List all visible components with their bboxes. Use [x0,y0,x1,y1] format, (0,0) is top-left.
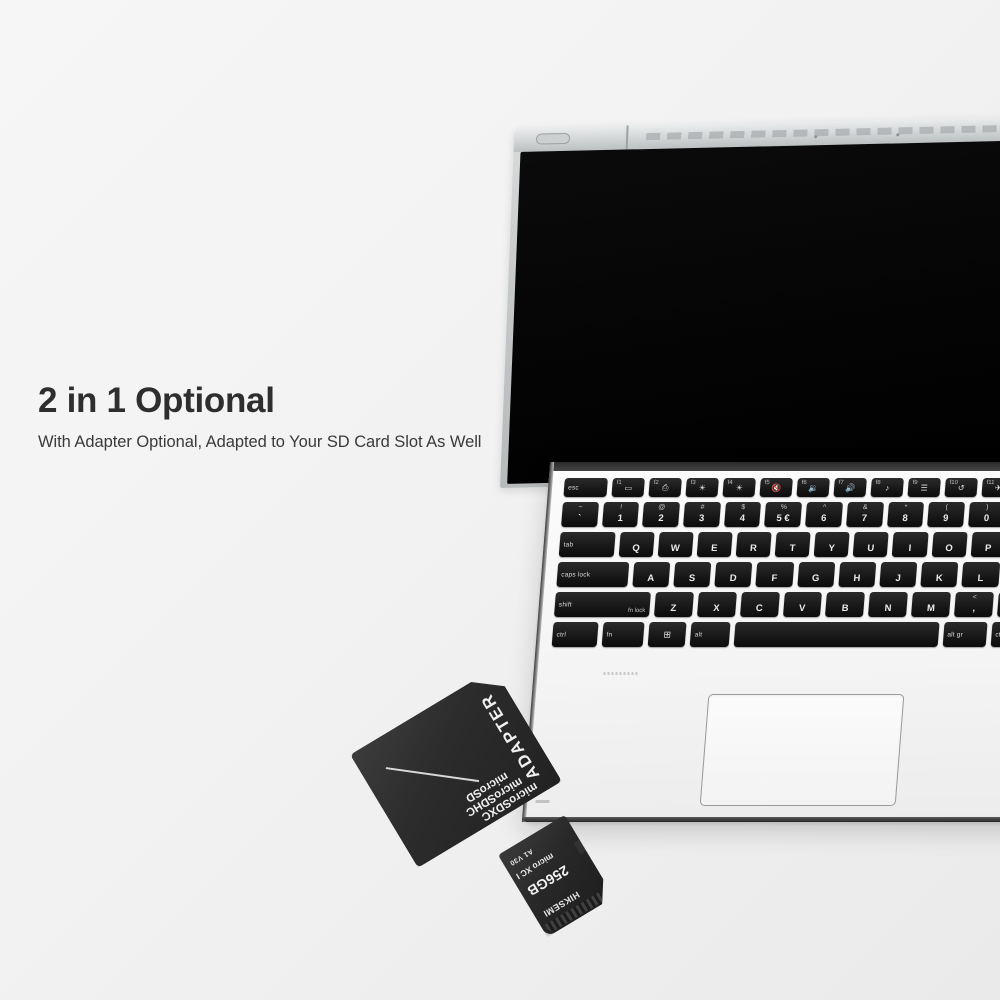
key-glyph-icon: ⊞ [648,629,686,640]
key-primary-legend: F [756,573,793,584]
key-q[interactable]: Q [618,532,654,557]
key-h[interactable]: H [838,562,876,587]
key-2[interactable]: @2 [642,502,680,527]
key-name-legend: esc [568,484,579,491]
key-primary-legend: 8 [887,513,924,524]
key-primary-legend: Q [619,543,654,554]
key-primary-legend: 6 [805,513,842,524]
key-w[interactable]: W [657,532,693,557]
laptop-base: escf1▭f2⎙f3☀f4☀f5🔇f6🔉f7🔊f8♪f9☰f10↺f11✈f1… [522,462,1000,822]
key-ctrl[interactable]: ctrl [552,622,599,647]
key-k[interactable]: K [920,562,958,587]
key-primary-legend: V [783,603,822,614]
key-z[interactable]: Z [654,592,694,617]
key-caps-lock[interactable]: caps lock [556,562,629,587]
base-front-edge [522,817,1000,822]
key-key[interactable]: f10↺ [944,478,977,497]
key-primary-legend: K [921,573,958,584]
key-u[interactable]: U [853,532,889,557]
keyboard-row-qwerty: tabQWERTYUIOP{[}] [559,532,1000,557]
key-6[interactable]: ^6 [805,502,843,527]
laptop-lid [500,115,1000,488]
keyboard-row-function: escf1▭f2⎙f3☀f4☀f5🔇f6🔉f7🔊f8♪f9☰f10↺f11✈f1… [563,478,1000,497]
key-primary-legend: A [632,573,669,584]
key-t[interactable]: T [775,532,811,557]
key-shift-legend: & [847,504,883,511]
key-1[interactable]: !1 [602,502,640,527]
key-shift-legend: * [888,504,924,511]
key-primary-legend: J [880,573,917,584]
key-glyph-icon: 🔇 [760,483,793,492]
key-primary-legend: E [697,543,732,554]
key-name-legend: ctrl [556,631,566,638]
key-name-legend: caps lock [561,571,590,578]
key-glyph-icon: ♪ [871,483,904,492]
key-key[interactable]: f7🔊 [834,478,867,497]
keyboard-row-modifiers: ctrlfn⊞altalt grctrl←home [552,622,1000,647]
key-shift-legend: @ [644,504,680,511]
key-primary-legend: 2 [643,513,680,524]
key-8[interactable]: *8 [887,502,925,527]
vent-slots-icon [646,124,1000,141]
key-shift-legend: $ [725,504,761,511]
key-primary-legend: D [715,573,752,584]
key-key[interactable]: f4☀ [723,478,756,497]
laptop-product-image: escf1▭f2⎙f3☀f4☀f5🔇f6🔉f7🔊f8♪f9☰f10↺f11✈f1… [470,110,1000,870]
webcam-shutter-icon [536,133,570,145]
laptop-screen [507,139,1000,483]
base-hinge-lip [549,462,1000,471]
status-led-icon [535,800,549,803]
key-shift-legend: ~ [562,504,598,511]
adapter-diagonal-line [385,767,478,782]
key-x[interactable]: X [697,592,737,617]
key-alt[interactable]: alt [690,622,731,647]
key-l[interactable]: L [962,562,1000,587]
key-name-legend: fn [606,631,612,638]
key-primary-legend: L [962,573,999,584]
key-3[interactable]: #3 [683,502,721,527]
microphone-hole-icon [814,135,817,138]
key-primary-legend: T [775,543,810,554]
key-primary-legend: I [892,543,927,554]
key-key[interactable]: f6🔉 [797,478,830,497]
key-shift[interactable]: shiftfn lock [554,592,651,617]
key-primary-legend: 9 [927,513,964,524]
key-primary-legend: 3 [683,513,720,524]
key-e[interactable]: E [697,532,733,557]
key-shift-legend: ! [603,504,639,511]
key-primary-legend: O [932,543,967,554]
key-key[interactable]: f9☰ [907,478,940,497]
key-tab[interactable]: tab [559,532,616,557]
key-4[interactable]: $4 [724,502,762,527]
key-primary-legend: R [736,543,771,554]
palm-rest [522,668,1000,817]
key-r[interactable]: R [736,532,772,557]
key-shift-legend: # [684,504,720,511]
key-f[interactable]: F [756,562,794,587]
key-primary-legend: C [740,603,779,614]
hinge-seam [626,126,629,150]
key-shift-legend: ) [969,504,1000,511]
keyboard-row-home: caps lockASDFGHJKL:;"' [556,562,1000,587]
key-primary-legend: 0 [968,513,1000,524]
key-name-legend: alt gr [947,631,963,638]
key-esc[interactable]: esc [563,478,608,497]
key-shift-legend: % [766,504,802,511]
key-key[interactable]: f5🔇 [760,478,793,497]
keyboard-row-zxcv: shiftfn lockZXCVBNM<,>.?/ [554,592,1000,617]
speaker-grille-icon [603,672,639,675]
key-j[interactable]: J [879,562,917,587]
key-shift-legend: < [955,594,993,601]
key-y[interactable]: Y [814,532,850,557]
key-primary-legend: , [954,603,993,614]
key-primary-legend: N [869,603,908,614]
key-shift-legend: ( [928,504,964,511]
key-shift-legend: ^ [806,504,842,511]
key-glyph-icon: 🔉 [797,483,830,492]
key-key[interactable]: f11✈ [981,478,1000,497]
key-primary-legend: 1 [602,513,639,524]
key-i[interactable]: I [892,532,928,557]
key-primary-legend: G [797,573,834,584]
key-primary-legend: S [673,573,710,584]
key-primary-legend: B [826,603,865,614]
key-primary-legend: W [658,543,693,554]
key-primary-legend: M [912,603,951,614]
trackpad[interactable] [700,694,905,806]
key-m[interactable]: M [911,592,951,617]
key-primary-legend: P [971,543,1000,554]
key-alt-gr[interactable]: alt gr [942,622,987,647]
key-s[interactable]: S [673,562,711,587]
key-0[interactable]: )0 [968,502,1000,527]
key-glyph-icon: ⎙ [649,483,682,493]
key-primary-legend: H [838,573,875,584]
key-c[interactable]: C [740,592,780,617]
key-n[interactable]: N [868,592,908,617]
key-a[interactable]: A [632,562,670,587]
key-key[interactable]: f3☀ [686,478,719,497]
key-primary-legend: 7 [846,513,883,524]
key-glyph-icon: ☀ [686,483,719,492]
key-key[interactable]: f2⎙ [649,478,682,497]
key-primary-legend: Y [814,543,849,554]
key-5[interactable]: %5 € [764,502,802,527]
key-primary-legend: X [697,603,736,614]
key-d[interactable]: D [714,562,752,587]
key-9[interactable]: (9 [927,502,965,527]
key-key[interactable]: ~` [561,502,599,527]
key-glyph-icon: ✈ [982,483,1000,492]
key-key[interactable]: <, [954,592,994,617]
microphone-hole-icon [896,133,899,136]
key-key[interactable] [734,622,939,647]
key-primary-legend: 4 [724,513,761,524]
key-name-legend: alt [695,631,703,638]
key-key[interactable]: ⊞ [648,622,687,647]
keyboard: escf1▭f2⎙f3☀f4☀f5🔇f6🔉f7🔊f8♪f9☰f10↺f11✈f1… [551,478,1000,652]
key-glyph-icon: ☰ [908,483,941,492]
key-7[interactable]: &7 [846,502,884,527]
key-glyph-icon: ▭ [612,483,645,492]
key-primary-legend: ` [561,513,598,524]
key-v[interactable]: V [783,592,823,617]
key-b[interactable]: B [825,592,865,617]
key-key[interactable]: f1▭ [612,478,645,497]
key-ctrl[interactable]: ctrl [990,622,1000,647]
key-name-legend: tab [563,541,573,548]
key-primary-legend: Z [654,603,693,614]
key-o[interactable]: O [931,532,967,557]
keyboard-row-numbers: ~`!1@2#3$4%5 €^6&7*8(9)0_-+= [561,502,1000,527]
key-secondary-legend: fn lock [628,608,646,614]
key-name-legend: shift [559,601,572,608]
key-primary-legend: U [853,543,888,554]
key-p[interactable]: P [970,532,1000,557]
key-primary-legend: 5 € [765,513,802,524]
key-name-legend: ctrl [995,631,1000,638]
key-key[interactable]: f8♪ [870,478,903,497]
key-g[interactable]: G [797,562,835,587]
key-glyph-icon: ☀ [723,483,756,492]
key-fn[interactable]: fn [602,622,645,647]
key-glyph-icon: ↺ [945,483,978,492]
key-glyph-icon: 🔊 [834,483,867,492]
